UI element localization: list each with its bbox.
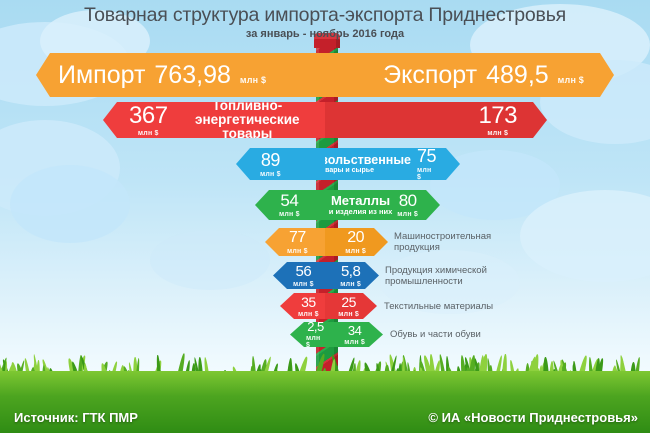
fuel-import-value: 367 <box>129 104 168 128</box>
export-value: 489,5 <box>486 61 549 90</box>
sign-food-export[interactable]: Продовольственные товары и сырье 75 млн … <box>325 148 460 180</box>
metals-label-line2: и изделия из них <box>329 208 393 216</box>
textile-import-value: 35 <box>301 295 316 309</box>
food-import-unit: млн $ <box>260 171 281 178</box>
shoes-label: Обувь и части обуви <box>390 322 481 347</box>
shoes-export-unit: млн $ <box>344 339 365 346</box>
shoes-export-value: 34 <box>348 324 361 337</box>
sign-textile-import[interactable]: 35 млн $ <box>280 293 325 319</box>
sign-machinery-import[interactable]: 77 млн $ <box>265 228 325 256</box>
sign-shoes-import[interactable]: 2,5 млн $ <box>290 322 325 347</box>
metals-export-value: 80 <box>399 192 417 209</box>
cloud-shape <box>10 165 130 243</box>
machinery-label: Машиностроительная продукция <box>394 228 491 256</box>
sign-chemical-export[interactable]: 5,8 млн $ <box>325 262 379 289</box>
textile-export-value: 25 <box>341 295 356 309</box>
food-import-value: 89 <box>261 151 280 169</box>
page-subtitle: за январь - ноябрь 2016 года <box>0 27 650 41</box>
shoes-import-unit: млн $ <box>306 335 325 349</box>
sign-chemical-import[interactable]: 56 млн $ <box>273 262 325 289</box>
export-label: Экспорт <box>383 61 477 90</box>
chemical-export-unit: млн $ <box>340 281 361 288</box>
fuel-label: Топливно-энергетические товары <box>178 99 317 142</box>
textile-import-unit: млн $ <box>298 311 319 318</box>
food-label-line2: товары и сырье <box>318 167 375 174</box>
textile-label: Текстильные материалы <box>384 293 493 319</box>
food-export-value: 75 <box>417 147 436 165</box>
export-unit: млн $ <box>558 75 584 85</box>
sign-fuel-export[interactable]: 173 млн $ <box>325 102 547 138</box>
infographic-canvas: Товарная структура импорта-экспорта Прид… <box>0 0 650 433</box>
source-credit: Источник: ГТК ПМР <box>14 410 138 425</box>
import-unit: млн $ <box>240 75 266 85</box>
machinery-import-unit: млн $ <box>287 248 308 255</box>
metals-import-unit: млн $ <box>279 211 300 218</box>
sign-export[interactable]: Экспорт 489,5 млн $ <box>325 53 614 97</box>
machinery-export-value: 20 <box>347 230 364 246</box>
machinery-export-unit: млн $ <box>345 248 366 255</box>
sign-fuel-import[interactable]: 367 млн $ Топливно-энергетические товары <box>103 102 325 138</box>
sign-metals-export[interactable]: Металлы и изделия из них 80 млн $ <box>325 190 440 220</box>
fuel-export-unit: млн $ <box>487 130 508 137</box>
sign-food-import[interactable]: 89 млн $ <box>236 148 325 180</box>
copyright-credit: © ИА «Новости Приднестровья» <box>428 410 638 425</box>
chemical-import-value: 56 <box>296 264 312 279</box>
page-title: Товарная структура импорта-экспорта Прид… <box>0 4 650 26</box>
sign-machinery-export[interactable]: 20 млн $ <box>325 228 388 256</box>
header: Товарная структура импорта-экспорта Прид… <box>0 4 650 41</box>
sign-textile-export[interactable]: 25 млн $ <box>325 293 377 319</box>
chemical-label: Продукция химической промышленности <box>385 262 487 289</box>
fuel-export-value: 173 <box>478 104 517 128</box>
sign-metals-import[interactable]: 54 млн $ <box>255 190 325 220</box>
cloud-shape <box>150 230 270 290</box>
sign-import[interactable]: Импорт 763,98 млн $ <box>36 53 325 97</box>
food-export-unit: млн $ <box>417 167 436 181</box>
textile-export-unit: млн $ <box>338 311 359 318</box>
import-label: Импорт <box>58 61 145 90</box>
metals-export-unit: млн $ <box>397 211 418 218</box>
chemical-import-unit: млн $ <box>293 281 314 288</box>
chemical-export-value: 5,8 <box>341 264 360 279</box>
machinery-import-value: 77 <box>289 230 306 246</box>
metals-import-value: 54 <box>280 192 298 209</box>
sign-shoes-export[interactable]: 34 млн $ <box>325 322 383 347</box>
metals-label-line1: Металлы <box>331 194 390 208</box>
fuel-import-unit: млн $ <box>138 130 159 137</box>
import-value: 763,98 <box>154 61 230 90</box>
